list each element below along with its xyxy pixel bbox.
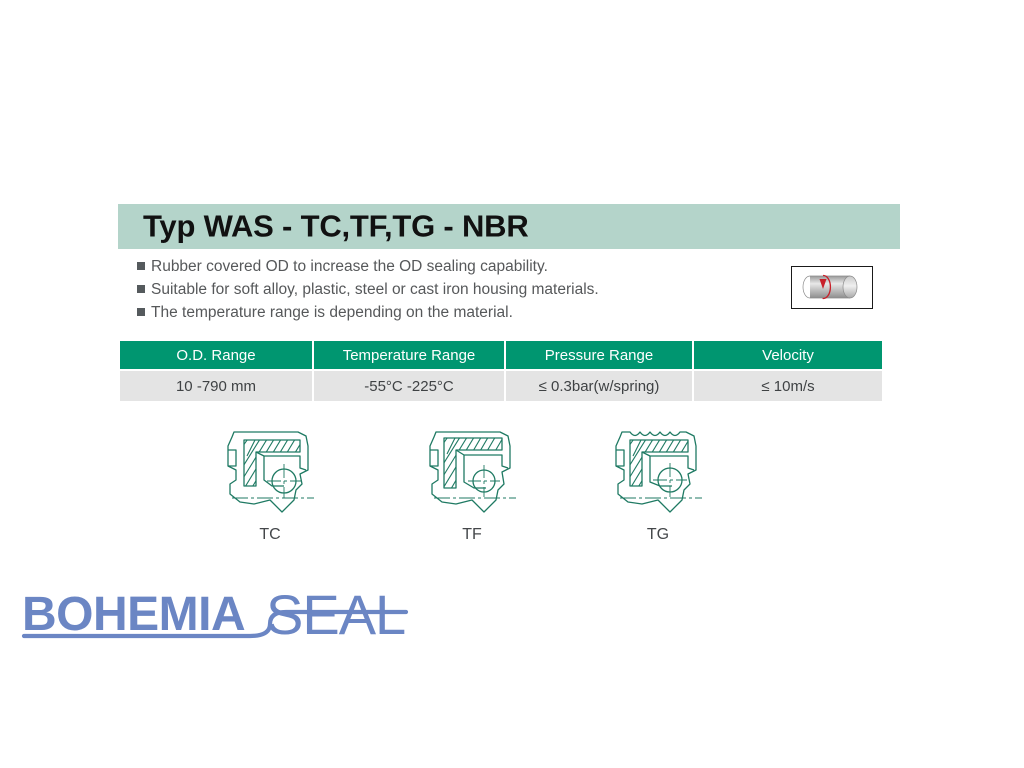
list-item: Suitable for soft alloy, plastic, steel … [137, 279, 757, 301]
seal-diagram-tg: TG [598, 424, 718, 544]
list-item-label: The temperature range is depending on th… [151, 302, 513, 323]
column-header-od-range: O.D. Range [120, 341, 312, 369]
page-title: Typ WAS - TC,TF,TG - NBR [143, 208, 529, 244]
seal-label-tc: TC [210, 526, 330, 544]
column-header-velocity: Velocity [694, 341, 882, 369]
feature-list: Rubber covered OD to increase the OD sea… [137, 256, 757, 325]
cell-temperature-range: -55°C -225°C [314, 371, 504, 401]
logo-word-bohemia: BOHEMIA [22, 588, 245, 641]
square-bullet-icon [137, 262, 145, 270]
cell-pressure-range: ≤ 0.3bar(w/spring) [506, 371, 692, 401]
rotating-shaft-icon [791, 266, 873, 309]
square-bullet-icon [137, 308, 145, 316]
square-bullet-icon [137, 285, 145, 293]
cell-od-range: 10 -790 mm [120, 371, 312, 401]
title-banner: Typ WAS - TC,TF,TG - NBR [118, 204, 900, 249]
column-header-temperature-range: Temperature Range [314, 341, 504, 369]
specification-table: O.D. Range Temperature Range Pressure Ra… [118, 339, 884, 403]
list-item: The temperature range is depending on th… [137, 302, 757, 324]
table-header-row: O.D. Range Temperature Range Pressure Ra… [120, 341, 882, 369]
brand-logo: BOHEMIA SEAL [18, 578, 418, 648]
seal-label-tf: TF [412, 526, 532, 544]
seal-diagram-tc: TC [210, 424, 330, 544]
list-item-label: Rubber covered OD to increase the OD sea… [151, 256, 548, 277]
list-item: Rubber covered OD to increase the OD sea… [137, 256, 757, 278]
column-header-pressure-range: Pressure Range [506, 341, 692, 369]
seal-label-tg: TG [598, 526, 718, 544]
table-row: 10 -790 mm -55°C -225°C ≤ 0.3bar(w/sprin… [120, 371, 882, 401]
logo-word-seal: SEAL [266, 583, 405, 646]
seal-diagram-tf: TF [412, 424, 532, 544]
cell-velocity: ≤ 10m/s [694, 371, 882, 401]
list-item-label: Suitable for soft alloy, plastic, steel … [151, 279, 599, 300]
